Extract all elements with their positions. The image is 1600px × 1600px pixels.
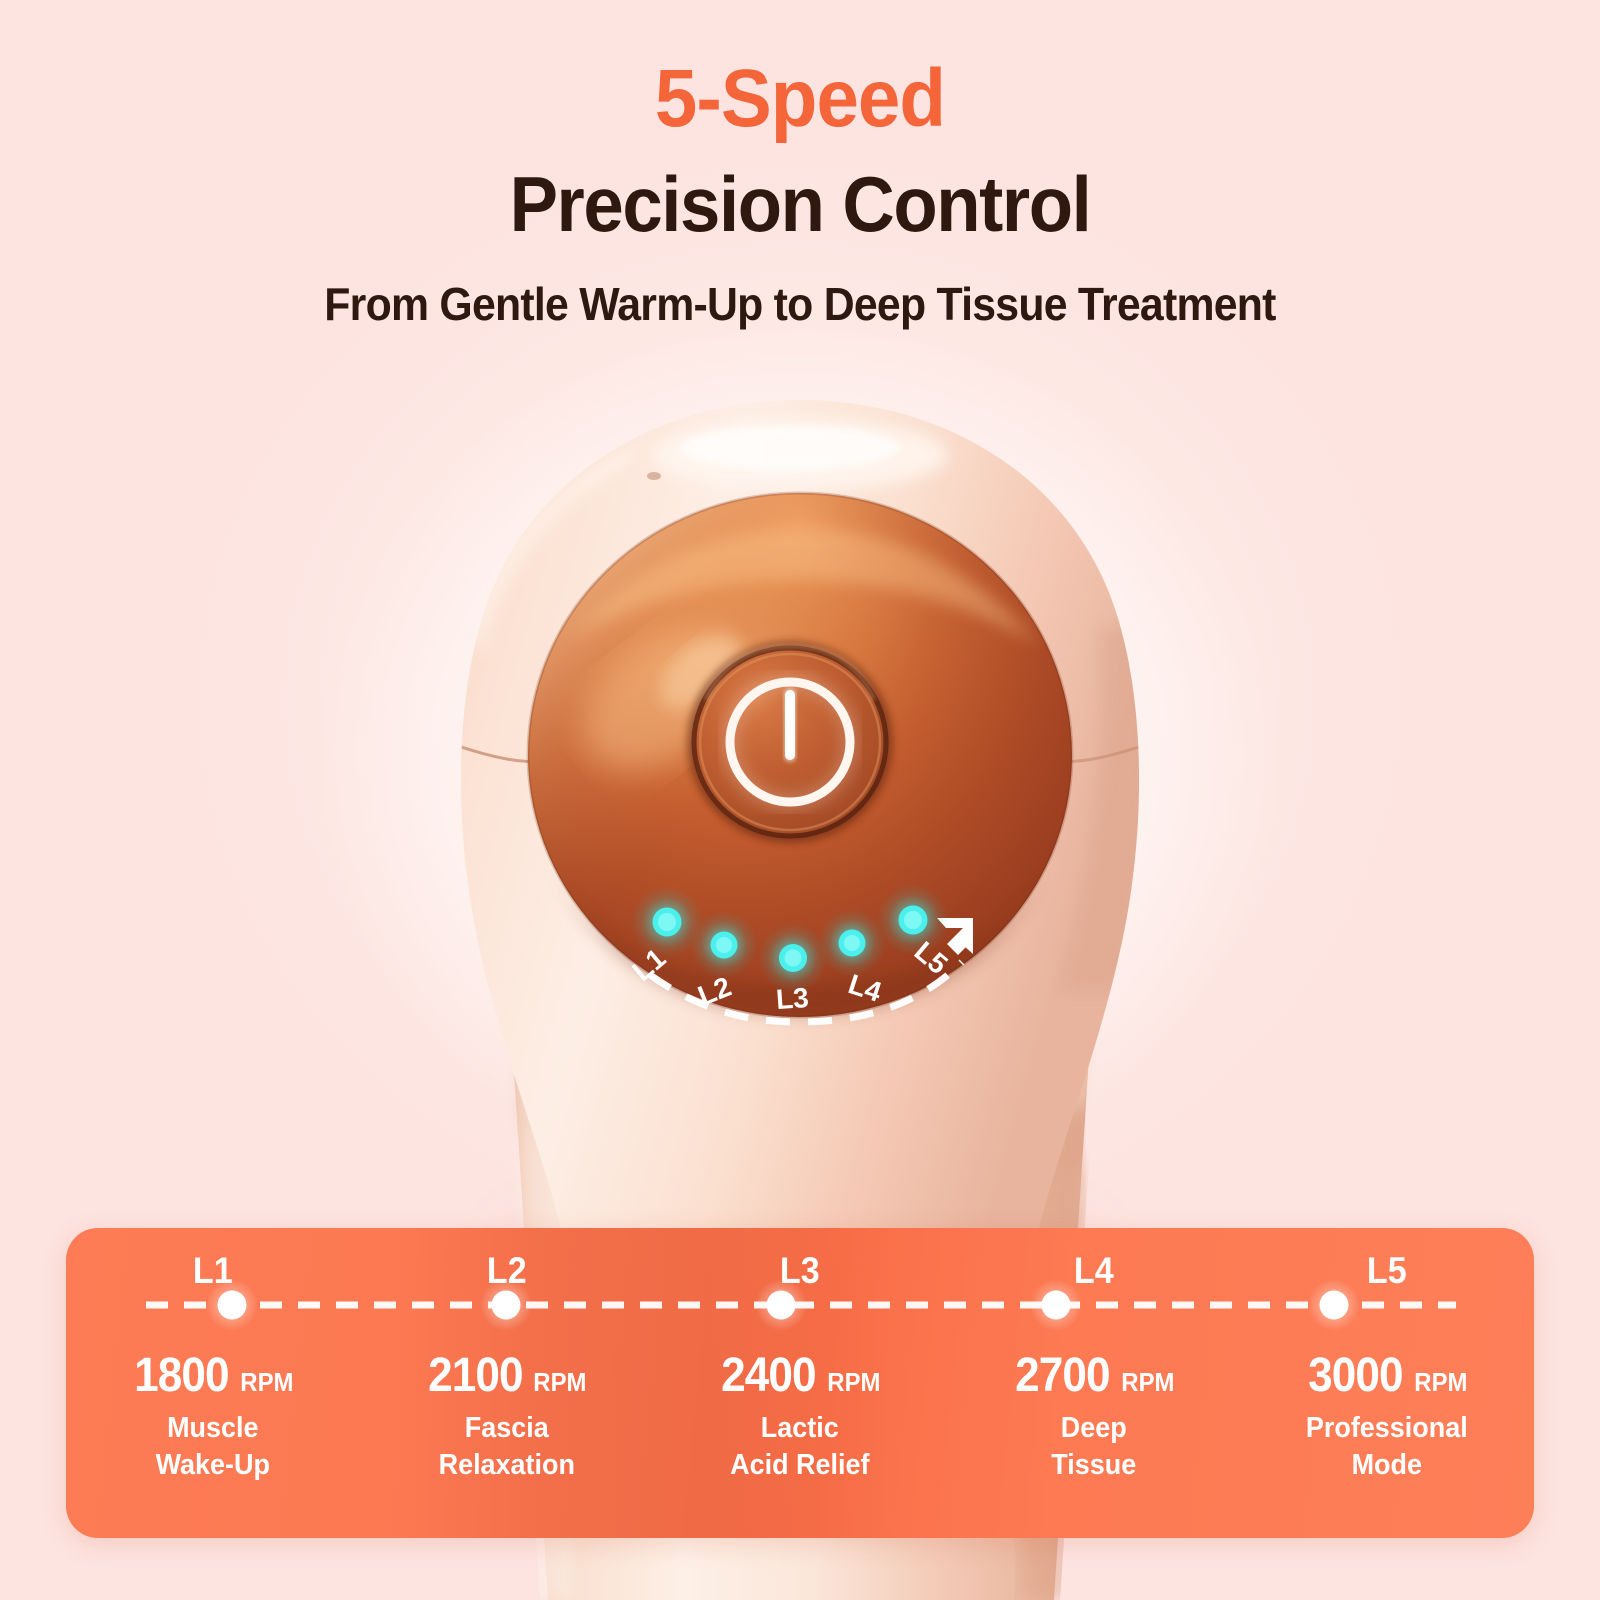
- spec-rpm-unit: RPM: [1121, 1367, 1174, 1398]
- spec-desc-line1: Lactic: [663, 1410, 936, 1447]
- page-subtitle: From Gentle Warm-Up to Deep Tissue Treat…: [56, 243, 1544, 327]
- spec-desc-line1: Fascia: [370, 1410, 643, 1447]
- spec-level-label: L4: [959, 1250, 1229, 1292]
- spec-level-label: L2: [371, 1250, 641, 1292]
- spec-rpm: 1800RPM: [66, 1348, 360, 1403]
- led-indicator-4: [818, 909, 886, 977]
- page-title: Precision Control: [56, 140, 1544, 243]
- spec-rpm-unit: RPM: [1414, 1367, 1467, 1398]
- spec-desc-line1: Muscle: [76, 1410, 349, 1447]
- spec-column-l2: L2 2100RPM Fascia Relaxation: [360, 1228, 654, 1538]
- spec-rpm: 2100RPM: [360, 1348, 654, 1403]
- spec-rpm-value: 2400: [721, 1348, 816, 1403]
- spec-rpm: 3000RPM: [1240, 1348, 1534, 1403]
- led-label-3: L3: [775, 982, 810, 1015]
- spec-desc-line2: Tissue: [957, 1447, 1230, 1484]
- spec-description: Professional Mode: [1251, 1410, 1524, 1483]
- spec-desc-line2: Mode: [1251, 1447, 1524, 1484]
- speed-spec-card: L1 1800RPM Muscle Wake-Up L2 2100RPM Fas…: [66, 1228, 1534, 1538]
- spec-desc-line2: Wake-Up: [76, 1447, 349, 1484]
- spec-rpm-unit: RPM: [240, 1367, 293, 1398]
- spec-rpm-value: 2100: [428, 1348, 523, 1403]
- spec-column-l3: L3 2400RPM Lactic Acid Relief: [653, 1228, 947, 1538]
- spec-rpm-unit: RPM: [534, 1367, 587, 1398]
- spec-level-label: L1: [78, 1250, 348, 1292]
- spec-rpm-value: 2700: [1015, 1348, 1110, 1403]
- spec-column-l4: L4 2700RPM Deep Tissue: [947, 1228, 1241, 1538]
- spec-rpm-value: 3000: [1309, 1348, 1404, 1403]
- spec-rpm: 2700RPM: [947, 1348, 1241, 1403]
- spec-desc-line2: Acid Relief: [663, 1447, 936, 1484]
- spec-rpm-value: 1800: [134, 1348, 229, 1403]
- spec-desc-line2: Relaxation: [370, 1447, 643, 1484]
- led-indicator-2: [690, 911, 758, 979]
- spec-desc-line1: Deep: [957, 1410, 1230, 1447]
- headings-block: 5-Speed Precision Control From Gentle Wa…: [0, 0, 1600, 327]
- spec-level-label: L3: [665, 1250, 935, 1292]
- spec-column-l1: L1 1800RPM Muscle Wake-Up: [66, 1228, 360, 1538]
- spec-rpm: 2400RPM: [653, 1348, 947, 1403]
- power-button[interactable]: [687, 641, 893, 843]
- spec-columns: L1 1800RPM Muscle Wake-Up L2 2100RPM Fas…: [66, 1228, 1534, 1538]
- spec-description: Deep Tissue: [957, 1410, 1230, 1483]
- spec-level-label: L5: [1252, 1250, 1522, 1292]
- spec-rpm-unit: RPM: [827, 1367, 880, 1398]
- spec-description: Lactic Acid Relief: [663, 1410, 936, 1483]
- title-accent: 5-Speed: [56, 0, 1544, 140]
- spec-column-l5: L5 3000RPM Professional Mode: [1240, 1228, 1534, 1538]
- spec-desc-line1: Professional: [1251, 1410, 1524, 1447]
- spec-description: Fascia Relaxation: [370, 1410, 643, 1483]
- spec-description: Muscle Wake-Up: [76, 1410, 349, 1483]
